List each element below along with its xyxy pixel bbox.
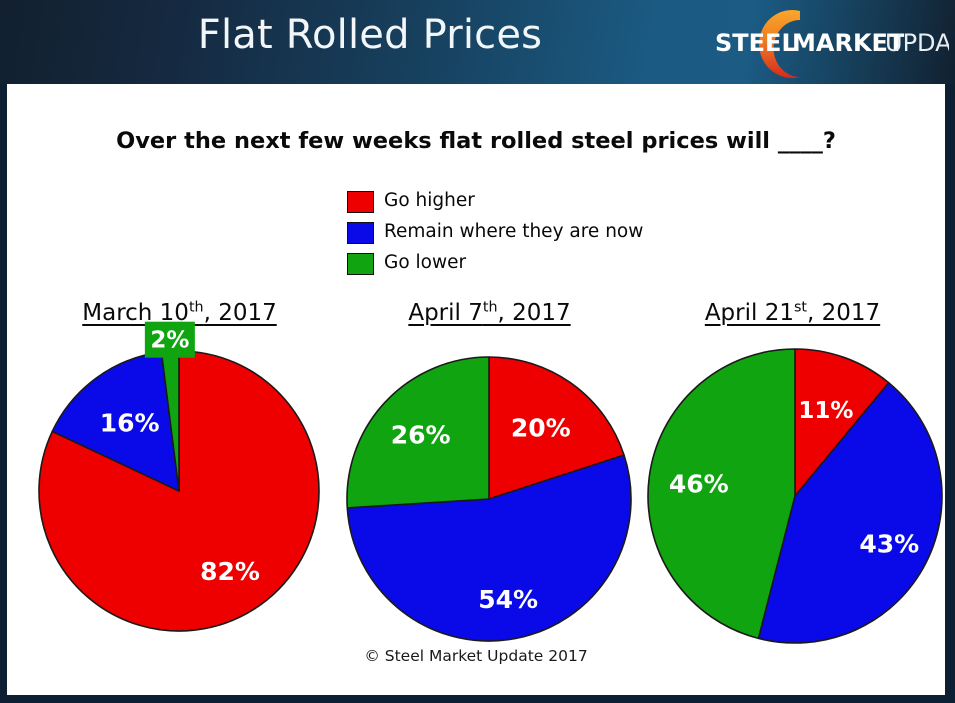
legend-swatch-go-lower (347, 253, 374, 275)
logo-word-steel: STEEL (715, 29, 797, 57)
pie-slice-label: 46% (669, 469, 729, 498)
pie-svg: 82%16%2% (32, 344, 326, 638)
chart-title-1-post: , 2017 (204, 300, 277, 326)
chart-title-3-post: , 2017 (807, 300, 880, 326)
pie-slice-label: 11% (798, 398, 853, 424)
copyright-footer: © Steel Market Update 2017 (7, 647, 945, 665)
chart-title-3-pre: April 21 (705, 300, 794, 326)
page-title: Flat Rolled Prices (0, 12, 740, 58)
logo-wordmark: STEEL MARKET UPDATE (715, 29, 949, 57)
legend-item: Go lower (347, 248, 643, 279)
legend-swatch-go-higher (347, 191, 374, 213)
chart-title-2-post: , 2017 (497, 300, 570, 326)
pie-slice-label: 16% (100, 409, 160, 438)
pie-chart-april-21-2017: 11%43%46% (645, 346, 945, 646)
legend-item: Go higher (347, 186, 643, 217)
survey-question: Over the next few weeks flat rolled stee… (7, 128, 945, 154)
slide-body: Over the next few weeks flat rolled stee… (7, 84, 945, 695)
chart-title-2-pre: April 7 (408, 300, 483, 326)
pie-slice-label: 82% (200, 557, 260, 586)
pie-svg: 20%54%26% (342, 352, 636, 646)
legend-swatch-remain (347, 222, 374, 244)
chart-title-1-sup: th (189, 299, 204, 315)
slide-root: Flat Rolled Prices STEEL MARKE (0, 0, 955, 703)
logo-word-update: UPDATE (885, 29, 949, 57)
pie-chart-april-7-2017: 20%54%26% (342, 352, 637, 647)
legend-item: Remain where they are now (347, 217, 643, 248)
pie-slice-label: 20% (511, 413, 571, 442)
pie-slice-label: 54% (478, 585, 538, 614)
pie-svg: 11%43%46% (645, 346, 945, 646)
slide-header: Flat Rolled Prices STEEL MARKE (0, 0, 955, 84)
chart-title-3-sup: st (794, 299, 807, 315)
logo-svg: STEEL MARKET UPDATE (699, 3, 949, 81)
chart-title-3: April 21st, 2017 (645, 300, 940, 326)
steel-market-update-logo: STEEL MARKET UPDATE (699, 3, 949, 81)
legend: Go higher Remain where they are now Go l… (347, 186, 643, 279)
pie-slice-label: 43% (859, 530, 919, 559)
pie-slice-label: 26% (391, 420, 451, 449)
pie-chart-march-10-2017: 82%16%2% (32, 344, 327, 639)
chart-title-2: April 7th, 2017 (342, 300, 637, 326)
pie-slice-label: 2% (150, 328, 189, 354)
chart-title-2-sup: th (483, 299, 498, 315)
legend-label-go-higher: Go higher (384, 192, 475, 211)
legend-label-go-lower: Go lower (384, 254, 466, 273)
legend-label-remain: Remain where they are now (384, 223, 643, 242)
